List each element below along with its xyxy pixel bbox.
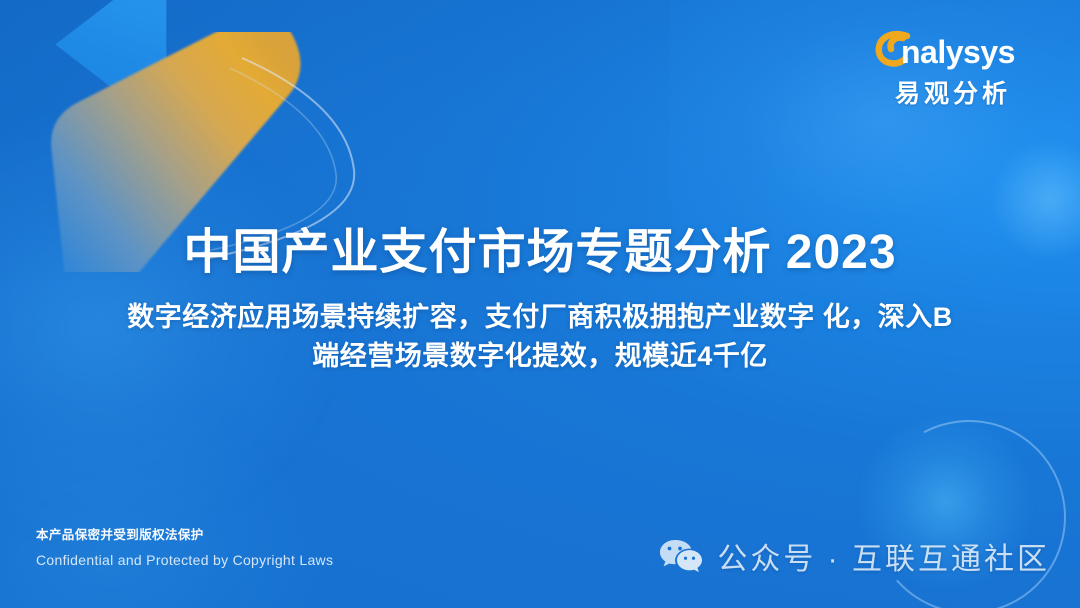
analysys-wordmark: nalysys — [868, 26, 1038, 72]
wechat-icon — [659, 538, 703, 574]
wechat-watermark: 公众号 · 互联互通社区 — [659, 534, 1050, 578]
background-bottom-left-glow — [0, 401, 324, 608]
watermark-text: 公众号 · 互联互通社区 — [717, 534, 1050, 578]
title-block: 中国产业支付市场专题分析 2023 数字经济应用场景持续扩容，支付厂商积极拥抱产… — [0, 226, 1080, 376]
copyright-chinese: 本产品保密并受到版权法保护 — [36, 524, 333, 543]
report-cover-slide: nalysys 易观分析 中国产业支付市场专题分析 2023 数字经济应用场景持… — [0, 0, 1080, 608]
ring-outline-icon — [864, 412, 1074, 608]
copyright-footer: 本产品保密并受到版权法保护 Confidential and Protected… — [36, 524, 333, 568]
page-subtitle: 数字经济应用场景持续扩容，支付厂商积极拥抱产业数字 化，深入B端经营场景数字化提… — [125, 298, 955, 376]
analysys-chinese-name: 易观分析 — [868, 74, 1038, 110]
svg-text:nalysys: nalysys — [901, 34, 1015, 70]
copyright-english: Confidential and Protected by Copyright … — [36, 552, 333, 568]
subtitle-line-1: 数字经济应用场景持续扩容，支付厂商积极拥抱产业数字 — [127, 302, 815, 332]
analysys-logo: nalysys 易观分析 — [868, 26, 1038, 110]
page-title: 中国产业支付市场专题分析 2023 — [60, 226, 1020, 280]
